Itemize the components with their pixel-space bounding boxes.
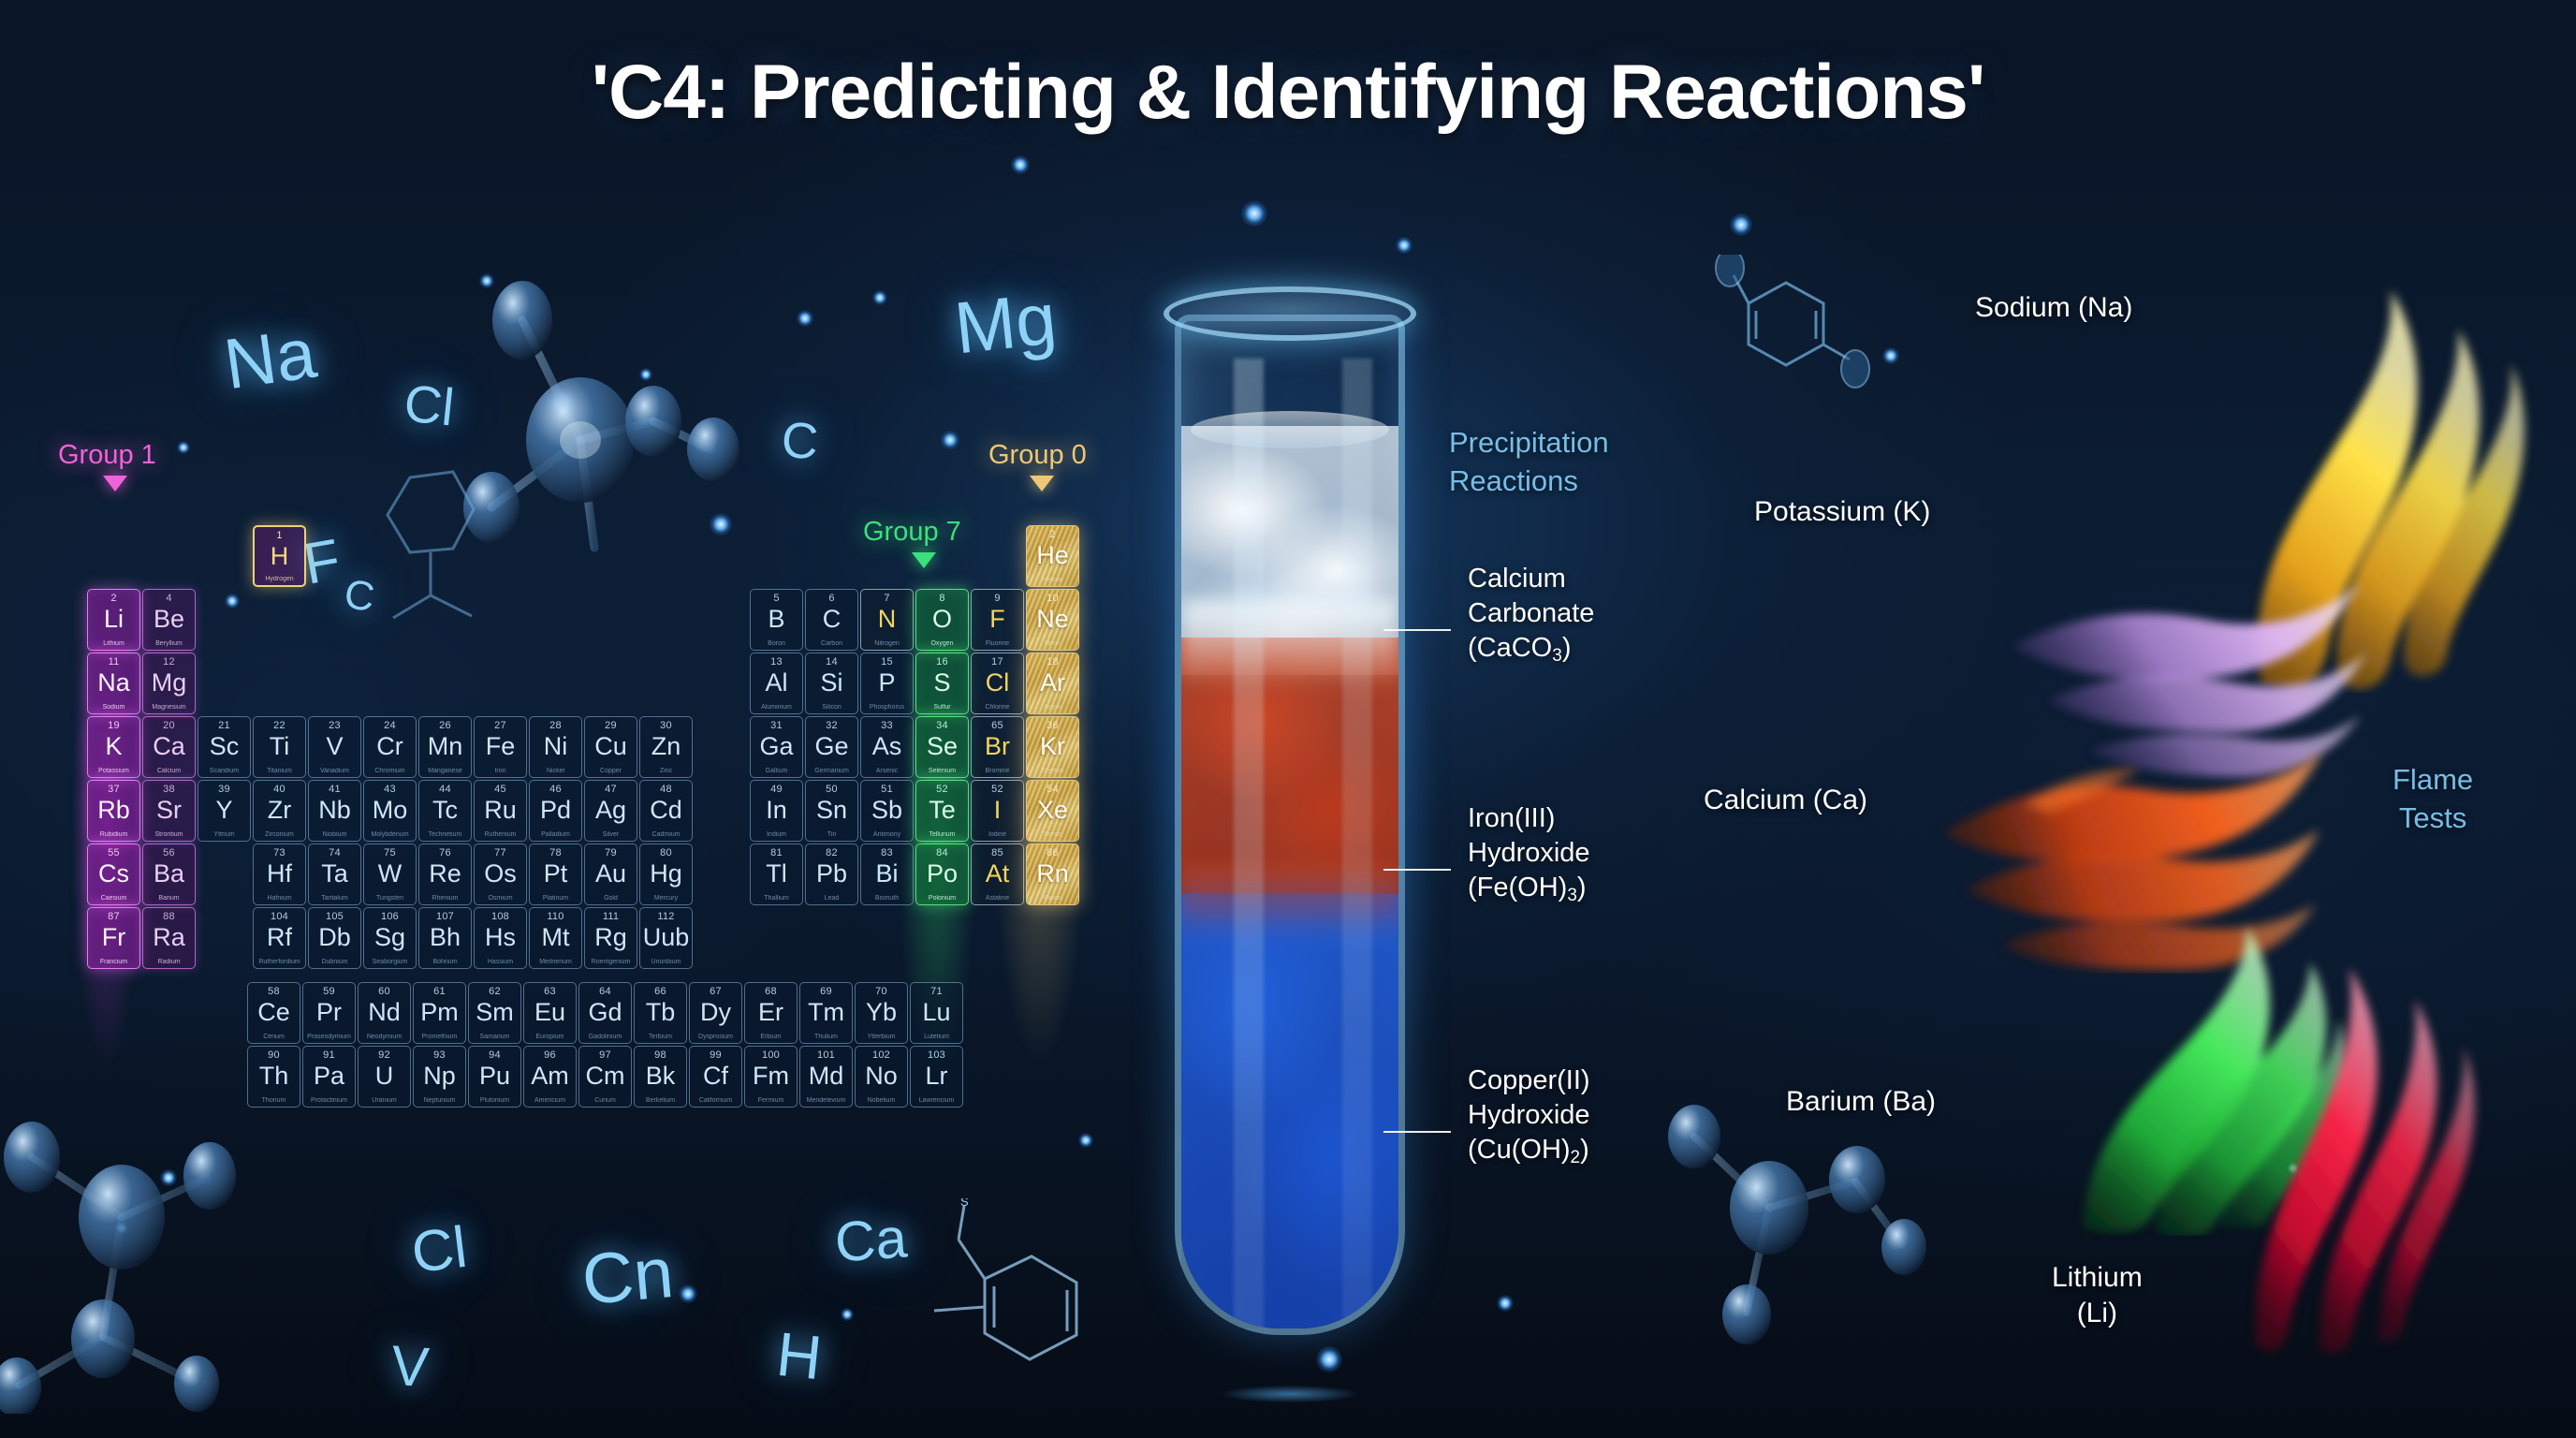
element-number: 5 [751, 593, 802, 604]
element-cell-f[interactable]: 9FFluorine [971, 589, 1024, 651]
element-cell-te[interactable]: 52TeTellurium [915, 780, 969, 842]
element-name: Rutherfordium [254, 959, 305, 965]
element-cell-cf[interactable]: 99CfCalifornium [689, 1046, 742, 1108]
element-name: Neon [1027, 640, 1078, 647]
element-name: Terbium [635, 1034, 686, 1040]
periodic-table[interactable]: 1HHydrogen2HeHelium2LiLithium4BeBerylliu… [0, 0, 1142, 1217]
element-number: 75 [364, 847, 416, 858]
element-symbol: Th [248, 1062, 300, 1090]
element-name: Ytterbium [856, 1034, 907, 1040]
element-number: 108 [475, 911, 526, 922]
element-cell-na[interactable]: 11NaSodium [87, 653, 140, 714]
element-name: Molybdenum [364, 831, 416, 838]
element-cell-ga[interactable]: 31GaGallium [750, 716, 803, 778]
element-cell-no[interactable]: 102NoNobelium [855, 1046, 908, 1108]
element-number: 85 [972, 847, 1023, 858]
glass-highlight-right [1342, 359, 1372, 1335]
element-symbol: Nb [309, 796, 360, 824]
element-number: 104 [254, 911, 305, 922]
element-cell-sm[interactable]: 62SmSamarium [468, 982, 521, 1044]
element-name: Thallium [751, 895, 802, 902]
element-name: Tungsten [364, 895, 416, 902]
element-symbol: F [972, 605, 1023, 633]
element-cell-cl[interactable]: 17ClChlorine [971, 653, 1024, 714]
calcium-carbonate-formula: (CaCO3) [1468, 633, 1571, 663]
element-cell-uub[interactable]: 112UubUnunbium [639, 907, 693, 969]
element-number: 44 [419, 784, 471, 795]
element-name: Potassium [88, 768, 139, 774]
element-cell-os[interactable]: 77OsOsmium [474, 844, 527, 905]
element-name: Astatine [972, 895, 1023, 902]
element-cell-o[interactable]: 8OOxygen [915, 589, 969, 651]
element-cell-tm[interactable]: 69TmThulium [799, 982, 853, 1044]
element-symbol: Np [414, 1062, 465, 1090]
element-number: 102 [856, 1049, 907, 1061]
element-symbol: Fm [745, 1062, 797, 1090]
element-symbol: Mo [364, 796, 416, 824]
element-cell-rn[interactable]: 86RnRadon [1026, 844, 1079, 905]
element-number: 82 [806, 847, 857, 858]
element-number: 45 [475, 784, 526, 795]
element-symbol: Be [143, 605, 195, 633]
element-name: Roentgenium [585, 959, 637, 965]
element-cell-ru[interactable]: 45RuRuthenium [474, 780, 527, 842]
element-number: 32 [806, 720, 857, 731]
element-cell-dy[interactable]: 67DyDysprosium [689, 982, 742, 1044]
element-cell-p[interactable]: 15PPhosphorus [860, 653, 914, 714]
glass-highlight-left [1234, 359, 1264, 1335]
sparkle-13 [841, 1308, 854, 1321]
element-cell-y[interactable]: 39YYttrium [198, 780, 251, 842]
element-number: 98 [635, 1049, 686, 1061]
element-number: 88 [143, 911, 195, 922]
element-number: 17 [972, 656, 1023, 668]
element-name: Silicon [806, 704, 857, 711]
element-cell-yb[interactable]: 70YbYtterbium [855, 982, 908, 1044]
element-cell-er[interactable]: 68ErErbium [744, 982, 798, 1044]
element-name: Polonium [916, 895, 968, 902]
element-symbol: O [916, 605, 968, 633]
element-number: 37 [88, 784, 139, 795]
element-number: 112 [640, 911, 692, 922]
element-name: Calcium [143, 768, 195, 774]
flame-tests-heading: Flame Tests [2393, 760, 2473, 837]
element-number: 76 [419, 847, 471, 858]
element-symbol: Tb [635, 998, 686, 1026]
element-number: 78 [530, 847, 581, 858]
element-cell-sn[interactable]: 50SnTin [805, 780, 858, 842]
element-number: 49 [751, 784, 802, 795]
flame-label-potassium: Potassium (K) [1754, 494, 1930, 530]
element-cell-zr[interactable]: 40ZrZirconium [253, 780, 306, 842]
element-symbol: Sn [806, 796, 857, 824]
element-symbol: Cl [972, 668, 1023, 697]
calcium-carbonate-line1: Calcium [1468, 564, 1566, 594]
element-symbol: Yb [856, 998, 907, 1026]
element-name: Mercury [640, 895, 692, 902]
element-cell-am[interactable]: 96AmAmericium [523, 1046, 577, 1108]
element-symbol: Fe [475, 732, 526, 760]
element-symbol: Cd [640, 796, 692, 824]
element-cell-tl[interactable]: 81TlThallium [750, 844, 803, 905]
element-name: Thulium [800, 1034, 852, 1040]
element-number: 46 [530, 784, 581, 795]
element-name: Gadolinium [579, 1034, 631, 1040]
element-cell-sr[interactable]: 38SrStrontium [142, 780, 196, 842]
element-cell-he[interactable]: 2HeHelium [1026, 525, 1079, 587]
element-cell-pd[interactable]: 46PdPalladium [529, 780, 582, 842]
molecule-model-bottomright [1657, 1095, 1928, 1348]
calcium-carbonate-line2: Carbonate [1468, 598, 1594, 628]
element-number: 19 [88, 720, 139, 731]
element-cell-si[interactable]: 14SiSilicon [805, 653, 858, 714]
element-number: 107 [419, 911, 471, 922]
element-name: Carbon [806, 640, 857, 647]
flame-sodium [2181, 281, 2537, 693]
element-number: 2 [1027, 529, 1078, 540]
sparkle-22 [1497, 1295, 1514, 1312]
element-cell-sg[interactable]: 106SgSeaborgium [363, 907, 417, 969]
element-cell-b[interactable]: 5BBoron [750, 589, 803, 651]
element-cell-kr[interactable]: 36KrKrypton [1026, 716, 1079, 778]
element-number: 68 [745, 986, 797, 997]
callout-copper-ii-hydroxide: Copper(II) Hydroxide (Cu(OH)2) [1468, 1064, 1590, 1175]
element-cell-u[interactable]: 92UUranium [358, 1046, 411, 1108]
element-name: Lead [806, 895, 857, 902]
element-symbol: Db [309, 923, 360, 951]
element-number: 79 [585, 847, 637, 858]
precipitation-reactions-heading: Precipitation Reactions [1449, 423, 1609, 500]
element-cell-rb[interactable]: 37RbRubidium [87, 780, 140, 842]
element-cell-c[interactable]: 6CCarbon [805, 589, 858, 651]
element-name: Copper [585, 768, 637, 774]
element-cell-s[interactable]: 16SSulfur [915, 653, 969, 714]
element-symbol: Ba [143, 859, 195, 888]
leader-line-copper-ii-hydroxide [1383, 1131, 1451, 1133]
element-symbol: Ca [143, 732, 195, 760]
element-cell-re[interactable]: 76ReRhenium [418, 844, 472, 905]
element-cell-pu[interactable]: 94PuPlutonium [468, 1046, 521, 1108]
element-cell-bi[interactable]: 83BiBismuth [860, 844, 914, 905]
element-cell-au[interactable]: 79AuGold [584, 844, 637, 905]
element-number: 103 [911, 1049, 962, 1061]
element-cell-k[interactable]: 19KPotassium [87, 716, 140, 778]
element-number: 50 [806, 784, 857, 795]
element-cell-n[interactable]: 7NNitrogen [860, 589, 914, 651]
element-number: 29 [585, 720, 637, 731]
element-name: Aluminium [751, 704, 802, 711]
element-symbol: Si [806, 668, 857, 697]
element-cell-hg[interactable]: 80HgMercury [639, 844, 693, 905]
element-number: 27 [475, 720, 526, 731]
element-cell-lr[interactable]: 103LrLawrencium [910, 1046, 963, 1108]
element-symbol: Hf [254, 859, 305, 888]
element-cell-ra[interactable]: 88RaRadium [142, 907, 196, 969]
element-name: Fluorine [972, 640, 1023, 647]
element-symbol: Li [88, 605, 139, 633]
element-symbol: Nd [359, 998, 410, 1026]
element-symbol: Ni [530, 732, 581, 760]
element-symbol: Hg [640, 859, 692, 888]
element-name: Manganese [419, 768, 471, 774]
element-symbol: Uub [640, 923, 692, 951]
element-name: Hydrogen [255, 576, 304, 582]
element-cell-zn[interactable]: 30ZnZinc [639, 716, 693, 778]
flame-label-lithium-line2: (Li) [2077, 1298, 2117, 1328]
element-cell-gd[interactable]: 64GdGadolinium [578, 982, 632, 1044]
element-symbol: Zr [254, 796, 305, 824]
element-symbol: Y [198, 796, 250, 824]
element-number: 58 [248, 986, 300, 997]
element-symbol: Hs [475, 923, 526, 951]
flame-potassium [1999, 506, 2374, 786]
element-name: Fermium [745, 1097, 797, 1104]
element-symbol: Po [916, 859, 968, 888]
element-cell-ar[interactable]: 18ArArgon [1026, 653, 1079, 714]
element-symbol: Lu [911, 998, 962, 1026]
element-symbol: Br [972, 732, 1023, 760]
element-number: 22 [254, 720, 305, 731]
element-cell-w[interactable]: 75WTungsten [363, 844, 417, 905]
element-name: Scandium [198, 768, 250, 774]
group-1-label: Group 1 [58, 440, 156, 471]
element-symbol: Tm [800, 998, 852, 1026]
test-tube[interactable] [1164, 281, 1416, 1386]
group-0-arrow-icon [1030, 476, 1054, 492]
element-symbol: Ti [254, 732, 305, 760]
element-cell-xe[interactable]: 54XeXenon [1026, 780, 1079, 842]
element-cell-cd[interactable]: 48CdCadmium [639, 780, 693, 842]
element-symbol: Pr [303, 998, 355, 1026]
element-cell-nb[interactable]: 41NbNiobium [308, 780, 361, 842]
element-symbol: Na [88, 668, 139, 697]
floating-symbol-v-7: V [389, 1333, 432, 1401]
element-name: Xenon [1027, 831, 1078, 838]
element-name: Berkelium [635, 1097, 686, 1104]
element-name: Plutonium [469, 1097, 520, 1104]
element-symbol: Sm [469, 998, 520, 1026]
element-cell-bh[interactable]: 107BhBohrium [418, 907, 472, 969]
infographic-canvas: 'C4: Predicting & Identifying Reactions' [0, 0, 2576, 1438]
floating-symbol-cn-8: Cn [578, 1232, 676, 1321]
element-number: 99 [690, 1049, 741, 1061]
element-symbol: Rn [1027, 859, 1078, 888]
element-name: Platinum [530, 895, 581, 902]
element-symbol: In [751, 796, 802, 824]
element-cell-fm[interactable]: 100FmFermium [744, 1046, 798, 1108]
element-cell-ce[interactable]: 58CeCerium [247, 982, 300, 1044]
element-name: Tellurium [916, 831, 968, 838]
element-name: Titanium [254, 768, 305, 774]
element-symbol: Mg [143, 668, 195, 697]
element-cell-hs[interactable]: 108HsHassium [474, 907, 527, 969]
element-cell-pa[interactable]: 91PaProtactinium [302, 1046, 356, 1108]
element-symbol: Cm [579, 1062, 631, 1090]
element-number: 52 [916, 784, 968, 795]
element-cell-fe[interactable]: 27FeIron [474, 716, 527, 778]
element-name: Silver [585, 831, 637, 838]
element-cell-hf[interactable]: 73HfHafnium [253, 844, 306, 905]
sparkle-20 [1882, 347, 1899, 364]
element-symbol: Cs [88, 859, 139, 888]
sparkle-19 [115, 1222, 128, 1235]
element-symbol: Eu [524, 998, 576, 1026]
element-number: 56 [143, 847, 195, 858]
element-cell-ti[interactable]: 22TiTitanium [253, 716, 306, 778]
element-name: Uranium [359, 1097, 410, 1104]
element-cell-as[interactable]: 33AsArsenic [860, 716, 914, 778]
element-cell-ni[interactable]: 28NiNickel [529, 716, 582, 778]
element-number: 16 [916, 656, 968, 668]
element-name: Arsenic [861, 768, 913, 774]
element-cell-cs[interactable]: 55CsCaesium [87, 844, 140, 905]
element-cell-eu[interactable]: 63EuEuropium [523, 982, 577, 1044]
element-symbol: Rb [88, 796, 139, 824]
element-cell-lu[interactable]: 71LuLutetium [910, 982, 963, 1044]
element-cell-ne[interactable]: 10NeNeon [1026, 589, 1079, 651]
element-number: 28 [530, 720, 581, 731]
element-cell-ge[interactable]: 32GeGermanium [805, 716, 858, 778]
element-cell-sc[interactable]: 21ScScandium [198, 716, 251, 778]
element-cell-br[interactable]: 65BrBromine [971, 716, 1024, 778]
element-number: 94 [469, 1049, 520, 1061]
element-number: 26 [419, 720, 471, 731]
test-tube-body [1175, 315, 1405, 1335]
element-cell-ag[interactable]: 47AgSilver [584, 780, 637, 842]
element-name: Nitrogen [861, 640, 913, 647]
element-cell-li[interactable]: 2LiLithium [87, 589, 140, 651]
element-name: Radium [143, 959, 195, 965]
element-cell-mt[interactable]: 110MtMeitnerium [529, 907, 582, 969]
element-cell-i[interactable]: 52IIodine [971, 780, 1024, 842]
element-cell-at[interactable]: 85AtAstatine [971, 844, 1024, 905]
element-number: 59 [303, 986, 355, 997]
element-number: 74 [309, 847, 360, 858]
element-cell-db[interactable]: 105DbDubnium [308, 907, 361, 969]
element-number: 66 [635, 986, 686, 997]
element-symbol: Lr [911, 1062, 962, 1090]
element-name: Oxygen [916, 640, 968, 647]
precipitation-heading-line2: Reactions [1449, 464, 1578, 497]
element-number: 90 [248, 1049, 300, 1061]
element-number: 36 [1027, 720, 1078, 731]
element-number: 15 [861, 656, 913, 668]
element-cell-h[interactable]: 1HHydrogen [253, 525, 306, 587]
element-cell-rf[interactable]: 104RfRutherfordium [253, 907, 306, 969]
element-symbol: V [309, 732, 360, 760]
element-symbol: B [751, 605, 802, 633]
element-cell-al[interactable]: 13AlAluminium [750, 653, 803, 714]
flame-calcium [1928, 712, 2331, 974]
element-symbol: Bk [635, 1062, 686, 1090]
flame-barium [2046, 908, 2355, 1236]
element-name: Ununbium [640, 959, 692, 965]
element-cell-pm[interactable]: 61PmPromethium [413, 982, 466, 1044]
element-symbol: Tl [751, 859, 802, 888]
element-cell-pb[interactable]: 82PbLead [805, 844, 858, 905]
flame-tests-heading-line1: Flame [2393, 763, 2473, 796]
element-cell-cr[interactable]: 24CrChromium [363, 716, 417, 778]
element-symbol: Bi [861, 859, 913, 888]
element-number: 83 [861, 847, 913, 858]
element-name: Vanadium [309, 768, 360, 774]
element-cell-v[interactable]: 23VVanadium [308, 716, 361, 778]
element-cell-fr[interactable]: 87FrFrancium [87, 907, 140, 969]
element-symbol: Tc [419, 796, 471, 824]
element-number: 4 [143, 593, 195, 604]
iron-hydroxide-formula: (Fe(OH)3) [1468, 873, 1587, 902]
element-cell-ba[interactable]: 56BaBarium [142, 844, 196, 905]
element-cell-cu[interactable]: 29CuCopper [584, 716, 637, 778]
element-cell-in[interactable]: 49InIndium [750, 780, 803, 842]
element-cell-pr[interactable]: 59PrPraseodymium [302, 982, 356, 1044]
element-number: 70 [856, 986, 907, 997]
element-number: 87 [88, 911, 139, 922]
element-cell-be[interactable]: 4BeBeryllium [142, 589, 196, 651]
element-cell-cm[interactable]: 97CmCurium [578, 1046, 632, 1108]
element-symbol: Sg [364, 923, 416, 951]
element-cell-se[interactable]: 34SeSelenium [915, 716, 969, 778]
element-symbol: Pa [303, 1062, 355, 1090]
element-name: Europium [524, 1034, 576, 1040]
element-cell-pt[interactable]: 78PtPlatinum [529, 844, 582, 905]
element-cell-np[interactable]: 93NpNeptunium [413, 1046, 466, 1108]
element-cell-ta[interactable]: 74TaTantalum [308, 844, 361, 905]
element-cell-po[interactable]: 84PoPolonium [915, 844, 969, 905]
element-cell-md[interactable]: 101MdMendelevium [799, 1046, 853, 1108]
element-cell-bk[interactable]: 98BkBerkelium [634, 1046, 687, 1108]
element-cell-mn[interactable]: 26MnManganese [418, 716, 472, 778]
element-cell-th[interactable]: 90ThThorium [247, 1046, 300, 1108]
element-symbol: At [972, 859, 1023, 888]
element-name: Francium [88, 959, 139, 965]
element-name: Magnesium [143, 704, 195, 711]
element-cell-mg[interactable]: 12MgMagnesium [142, 653, 196, 714]
element-number: 93 [414, 1049, 465, 1061]
element-cell-mo[interactable]: 43MoMolybdenum [363, 780, 417, 842]
element-name: Radon [1027, 895, 1078, 902]
element-cell-rg[interactable]: 111RgRoentgenium [584, 907, 637, 969]
element-number: 55 [88, 847, 139, 858]
element-symbol: H [255, 542, 304, 570]
element-cell-tb[interactable]: 66TbTerbium [634, 982, 687, 1044]
element-cell-nd[interactable]: 60NdNeodymium [358, 982, 411, 1044]
group-7-label: Group 7 [863, 517, 961, 548]
element-cell-tc[interactable]: 44TcTechnetium [418, 780, 472, 842]
element-name: Iodine [972, 831, 1023, 838]
element-symbol: Re [419, 859, 471, 888]
copper-hydroxide-formula: (Cu(OH)2) [1468, 1135, 1589, 1165]
element-number: 86 [1027, 847, 1078, 858]
element-symbol: Pt [530, 859, 581, 888]
element-number: 7 [861, 593, 913, 604]
element-number: 1 [255, 530, 304, 541]
element-symbol: As [861, 732, 913, 760]
element-symbol: I [972, 796, 1023, 824]
element-cell-sb[interactable]: 51SbAntimony [860, 780, 914, 842]
flame-label-sodium: Sodium (Na) [1975, 290, 2132, 326]
floating-symbol-h-9: H [773, 1318, 825, 1394]
element-symbol: Kr [1027, 732, 1078, 760]
sparkle-15 [2287, 1162, 2300, 1175]
element-name: Ruthenium [475, 831, 526, 838]
callout-iron-iii-hydroxide: Iron(III) Hydroxide (Fe(OH)3) [1468, 801, 1590, 913]
element-name: Gold [585, 895, 637, 902]
element-number: 23 [309, 720, 360, 731]
element-cell-ca[interactable]: 20CaCalcium [142, 716, 196, 778]
element-name: Osmium [475, 895, 526, 902]
element-number: 64 [579, 986, 631, 997]
